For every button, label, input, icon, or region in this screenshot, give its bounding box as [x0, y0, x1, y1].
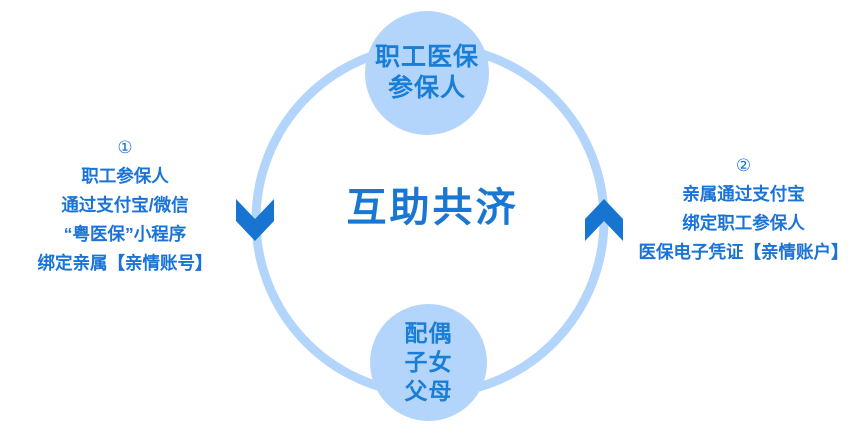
step-2-line-2: 绑定职工参保人	[682, 213, 805, 233]
node-top-employee-insured: 职工医保 参保人	[365, 11, 489, 135]
step-2-line-3: 医保电子凭证【亲情账户】	[639, 242, 849, 262]
node-bottom-family-members: 配偶 子女 父母	[370, 304, 487, 421]
node-top-line-2: 参保人	[388, 73, 466, 104]
step-1-number: ①	[4, 137, 246, 159]
step-1-line-1: 职工参保人	[81, 166, 169, 186]
diagram-canvas: 职工医保 参保人 配偶 子女 父母 互助共济 ① 职工参保人 通过支付宝/微信 …	[0, 0, 865, 441]
step-2-line-1: 亲属通过支付宝	[682, 184, 805, 204]
node-bottom-line-1: 配偶	[405, 319, 453, 348]
step-1-line-2: 通过支付宝/微信	[61, 195, 188, 215]
step-2-block: ② 亲属通过支付宝 绑定职工参保人 医保电子凭证【亲情账户】	[622, 155, 865, 267]
node-bottom-line-3: 父母	[405, 377, 453, 406]
step-1-line-4: 绑定亲属【亲情账号】	[38, 253, 213, 273]
step-1-block: ① 职工参保人 通过支付宝/微信 “粤医保”小程序 绑定亲属【亲情账号】	[4, 137, 246, 278]
arrow-up-icon	[583, 195, 625, 245]
step-2-number: ②	[622, 155, 865, 177]
step-1-line-3: “粤医保”小程序	[64, 224, 187, 244]
node-top-line-1: 职工医保	[375, 42, 479, 73]
node-bottom-line-2: 子女	[405, 348, 453, 377]
